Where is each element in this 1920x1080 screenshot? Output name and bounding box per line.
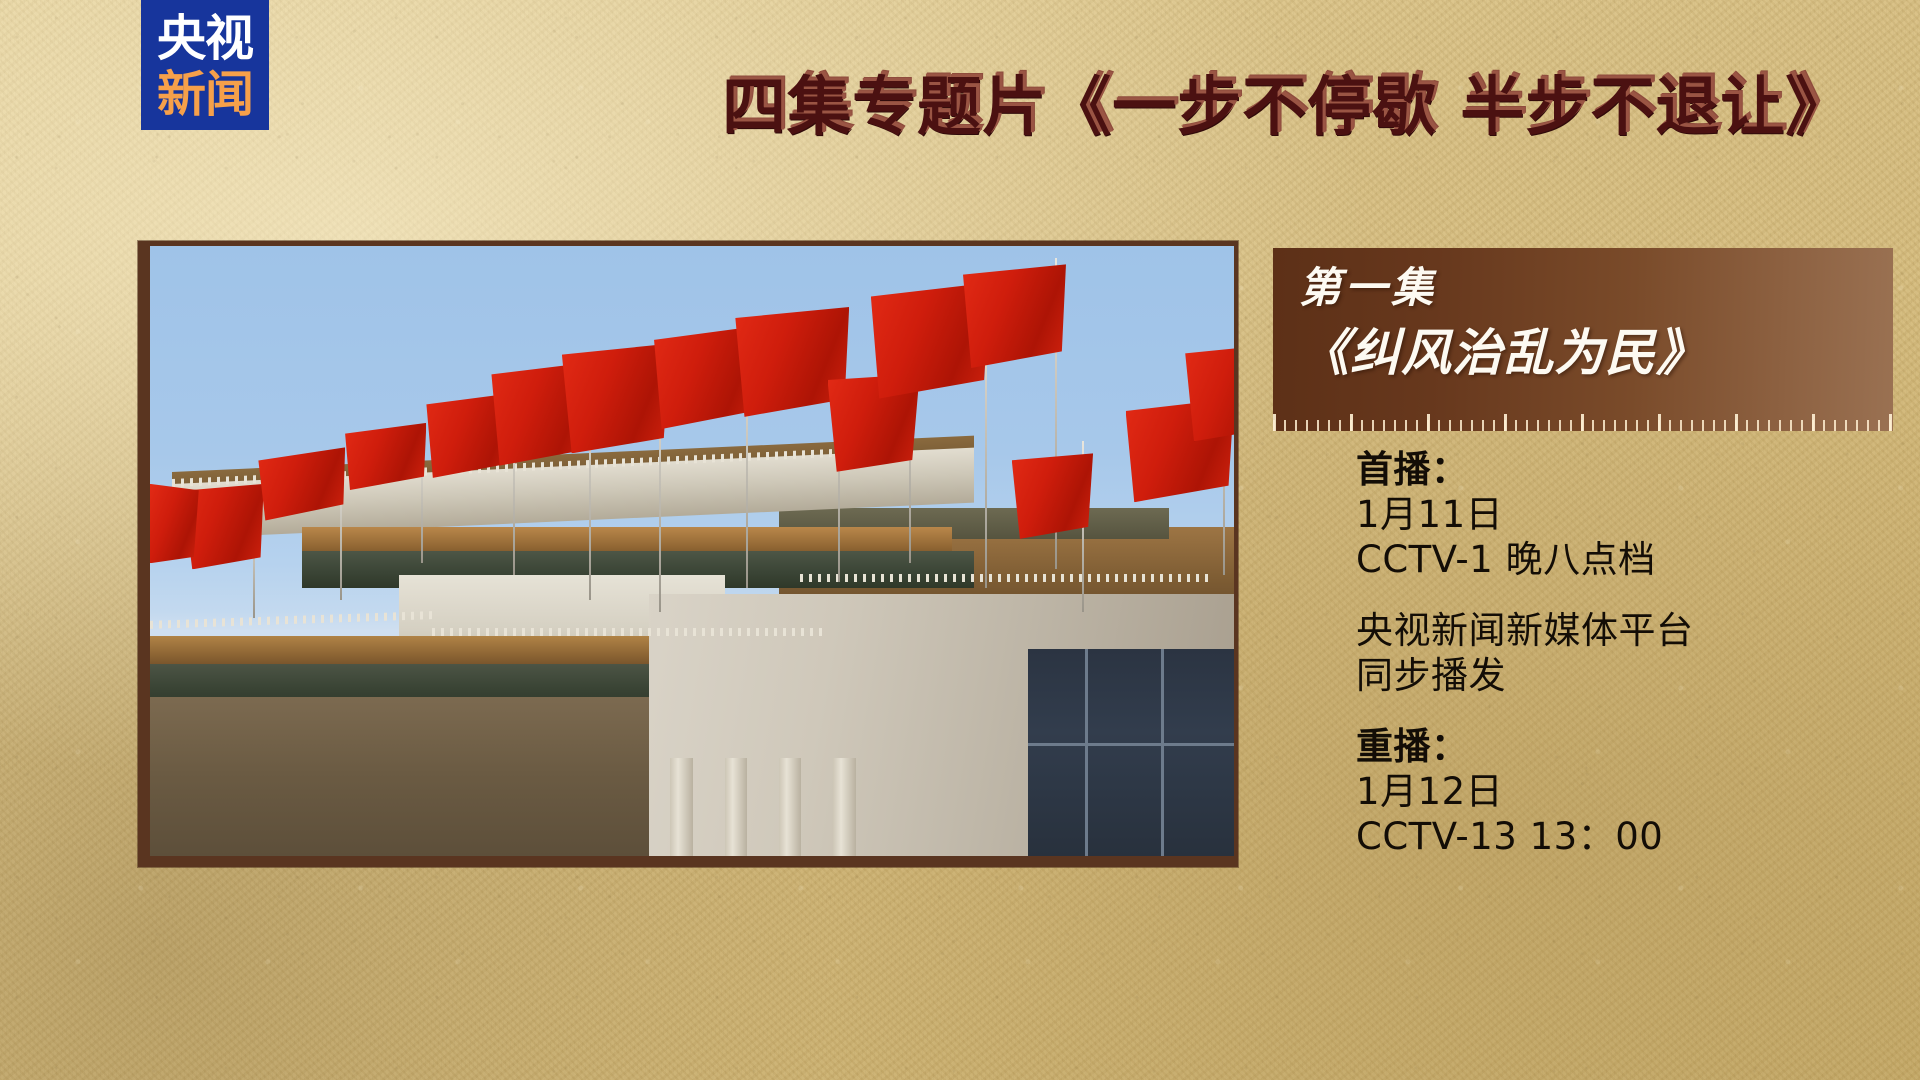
schedule-heading: 首播： xyxy=(1356,447,1886,492)
schedule-block-premiere: 首播： 1月11日 CCTV-1 晚八点档 xyxy=(1356,447,1886,582)
newmedia-simulcast: 同步播发 xyxy=(1356,653,1886,698)
photo-frame xyxy=(138,241,1238,867)
newmedia-platform: 央视新闻新媒体平台 xyxy=(1356,608,1886,653)
building-column xyxy=(779,758,802,856)
ruler-tick-strip xyxy=(1273,414,1893,431)
logo-line-xinwen: 新闻 xyxy=(157,67,253,123)
parapet-teeth xyxy=(800,574,1212,582)
flag-red xyxy=(562,344,670,454)
window-mullion xyxy=(1028,743,1234,746)
parapet-teeth xyxy=(150,611,432,629)
logo-line-yangshi: 央视 xyxy=(157,11,253,67)
window-mullion xyxy=(1085,649,1088,856)
schedule-date: 1月12日 xyxy=(1356,769,1886,814)
parapet-teeth xyxy=(432,628,822,636)
photo-great-hall xyxy=(150,246,1234,856)
schedule-heading: 重播： xyxy=(1356,724,1886,769)
schedule-channel-time: CCTV-13 13：00 xyxy=(1356,814,1886,859)
flag-red xyxy=(1185,344,1234,442)
broadcast-schedule: 首播： 1月11日 CCTV-1 晚八点档 央视新闻新媒体平台 同步播发 重播：… xyxy=(1356,447,1886,859)
building-column xyxy=(670,758,693,856)
schedule-channel-time: CCTV-1 晚八点档 xyxy=(1356,537,1886,582)
window-mullion xyxy=(1161,649,1164,856)
schedule-date: 1月11日 xyxy=(1356,492,1886,537)
schedule-block-rerun: 重播： 1月12日 CCTV-13 13：00 xyxy=(1356,724,1886,859)
building-glass-wall xyxy=(1028,649,1234,856)
episode-banner: 第一集 《纠风治乱为民》 xyxy=(1273,248,1893,431)
page-title: 四集专题片《一步不停歇 半步不退让》 xyxy=(722,72,1850,144)
schedule-block-newmedia: 央视新闻新媒体平台 同步播发 xyxy=(1356,608,1886,698)
building-column xyxy=(725,758,748,856)
building-left-mass xyxy=(150,697,714,856)
episode-title: 《纠风治乱为民》 xyxy=(1299,322,1893,384)
flag-red xyxy=(150,484,199,563)
building-column xyxy=(833,758,856,856)
cctv-news-logo[interactable]: 央视 新闻 xyxy=(141,0,269,130)
poster-root: 央视 新闻 四集专题片《一步不停歇 半步不退让》 xyxy=(0,0,1920,1080)
flag-red xyxy=(1012,453,1093,538)
flag-red xyxy=(963,264,1066,368)
episode-number: 第一集 xyxy=(1299,262,1893,314)
